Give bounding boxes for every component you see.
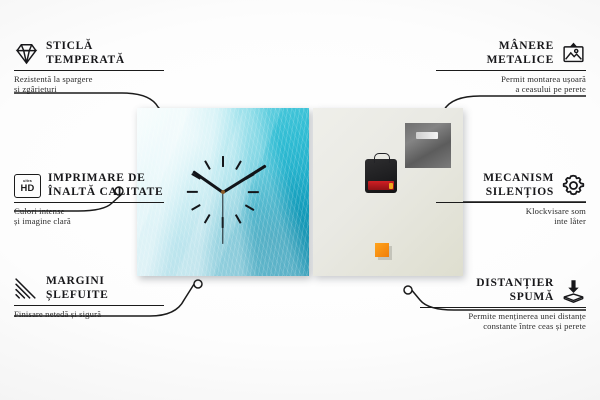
feature-polished-edges: MARGINI ȘLEFUITE Finisare netedă și sigu… — [14, 275, 164, 319]
clock-mechanism — [365, 159, 397, 193]
ultra-hd-large-label: HD — [21, 183, 35, 193]
battery — [368, 181, 394, 190]
feature-subtitle-line1: Rezistentă la spargere — [14, 74, 164, 84]
feature-subtitle-line1: Permite menținerea unei distanțe — [420, 311, 586, 321]
feature-subtitle-line2: a ceasului pe perete — [436, 84, 586, 94]
foam-spacer-pad — [375, 243, 389, 257]
feature-title-line2: TEMPERATĂ — [46, 54, 125, 68]
feature-subtitle-line2: inte låter — [436, 216, 586, 226]
feature-title-line2: SILENȚIOS — [483, 186, 554, 200]
clock-center-pin — [221, 190, 225, 194]
feature-rule — [420, 307, 586, 308]
feature-title-line2: ȘLEFUITE — [46, 289, 108, 303]
feature-foam-spacer: DISTANȚIER SPUMĂ Permite menținerea unei… — [420, 277, 586, 332]
feature-high-quality-print: ultra HD IMPRIMARE DE ÎNALTĂ CALITATE Cu… — [14, 172, 164, 227]
mechanism-hook — [374, 153, 390, 163]
feature-title-line2: ÎNALTĂ CALITATE — [48, 186, 163, 200]
feature-silent-mechanism: MECANISM SILENȚIOS Klockvisare som inte … — [436, 172, 586, 227]
feature-title-line1: STICLĂ — [46, 40, 125, 54]
gear-icon — [561, 173, 586, 198]
infographic-canvas: STICLĂ TEMPERATĂ Rezistentă la spargere … — [0, 0, 600, 400]
product-photo — [137, 108, 463, 276]
feature-rule — [436, 202, 586, 203]
beveled-edge-icon — [14, 276, 39, 301]
feature-title-line1: MARGINI — [46, 275, 108, 289]
feature-title-line1: DISTANȚIER — [476, 277, 554, 291]
connector-node-polished-edges — [194, 280, 202, 288]
feature-title-line2: SPUMĂ — [476, 291, 554, 305]
feature-metal-handles: MÂNERE METALICE Permit montarea ușoară a… — [436, 40, 586, 95]
feature-rule — [14, 202, 164, 203]
metal-hanger-plate — [405, 123, 451, 168]
feature-rule — [14, 305, 164, 306]
feature-title-line1: MÂNERE — [487, 40, 554, 54]
feature-tempered-glass: STICLĂ TEMPERATĂ Rezistentă la spargere … — [14, 40, 164, 95]
feature-title-line1: IMPRIMARE DE — [48, 172, 163, 186]
feature-subtitle-line1: Permit montarea ușoară — [436, 74, 586, 84]
feature-subtitle-line2: constante între ceas și perete — [420, 321, 586, 331]
hanger-slot — [416, 132, 438, 139]
picture-hanger-icon — [561, 41, 586, 66]
diamond-icon — [14, 41, 39, 66]
feature-title-line2: METALICE — [487, 54, 554, 68]
feature-subtitle-line1: Klockvisare som — [436, 206, 586, 216]
ultra-hd-icon: ultra HD — [14, 174, 41, 198]
press-pad-icon — [561, 278, 586, 303]
feature-subtitle-line1: Finisare netedă și sigură — [14, 309, 164, 319]
feature-subtitle-line2: și zgârieturi — [14, 84, 164, 94]
feature-subtitle-line2: și imagine clară — [14, 216, 164, 226]
feature-rule — [14, 70, 164, 71]
battery-terminal — [389, 183, 393, 189]
feature-subtitle-line1: Culori intense — [14, 206, 164, 216]
feature-rule — [436, 70, 586, 71]
feature-title-line1: MECANISM — [483, 172, 554, 186]
connector-node-foam-spacer — [404, 286, 412, 294]
